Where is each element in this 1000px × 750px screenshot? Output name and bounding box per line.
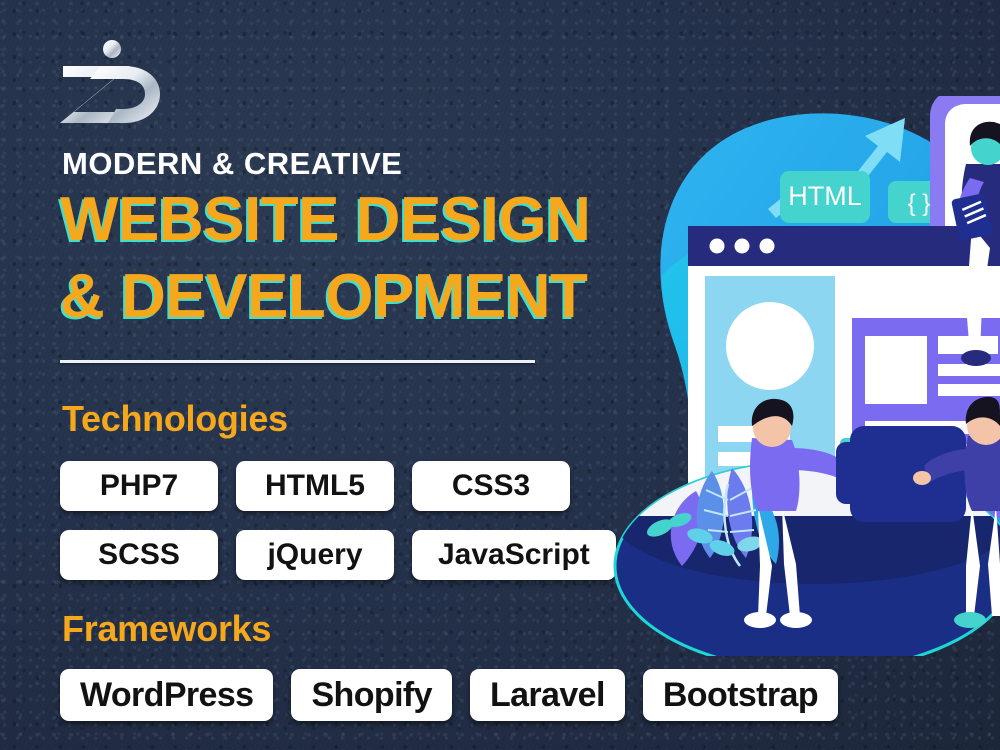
headline-line-1: WEBSITE DESIGN <box>60 189 590 251</box>
frameworks-row: WordPress Shopify Laravel Bootstrap <box>60 669 838 721</box>
tech-pill[interactable]: CSS3 <box>412 461 570 511</box>
technologies-heading: Technologies <box>62 398 288 440</box>
browser-dot-icon <box>710 239 725 254</box>
content-card-line <box>938 384 1000 396</box>
browser-dot-icon <box>760 239 775 254</box>
tech-pill[interactable]: HTML5 <box>236 461 394 511</box>
framework-pill[interactable]: Laravel <box>470 669 625 721</box>
divider-rule <box>60 360 535 363</box>
web-development-illustration: HTML { } <box>600 96 1000 656</box>
zd-monogram-logo <box>60 38 165 123</box>
technologies-row-1: PHP7 HTML5 CSS3 <box>60 461 570 511</box>
framework-pill[interactable]: Bootstrap <box>643 669 838 721</box>
tech-pill[interactable]: PHP7 <box>60 461 218 511</box>
html-badge-label: HTML <box>788 181 862 211</box>
content-card-line <box>938 364 1000 376</box>
framework-pill[interactable]: WordPress <box>60 669 273 721</box>
carried-block-tab <box>836 442 876 504</box>
code-badge-label: { } <box>908 190 931 217</box>
technologies-row-2: SCSS jQuery JavaScript <box>60 530 616 580</box>
headline-line-2: & DEVELOPMENT <box>60 266 587 328</box>
promo-banner: MODERN & CREATIVE WEBSITE DESIGN & DEVEL… <box>0 0 1000 750</box>
avatar <box>726 302 814 390</box>
content-card-block <box>865 336 927 404</box>
tech-pill[interactable]: jQuery <box>236 530 394 580</box>
tech-pill[interactable]: JavaScript <box>412 530 616 580</box>
tech-pill[interactable]: SCSS <box>60 530 218 580</box>
logo-dot-icon <box>103 40 121 58</box>
browser-dot-icon <box>735 239 750 254</box>
kicker-text: MODERN & CREATIVE <box>62 146 402 182</box>
frameworks-heading: Frameworks <box>62 608 271 650</box>
framework-pill[interactable]: Shopify <box>291 669 451 721</box>
